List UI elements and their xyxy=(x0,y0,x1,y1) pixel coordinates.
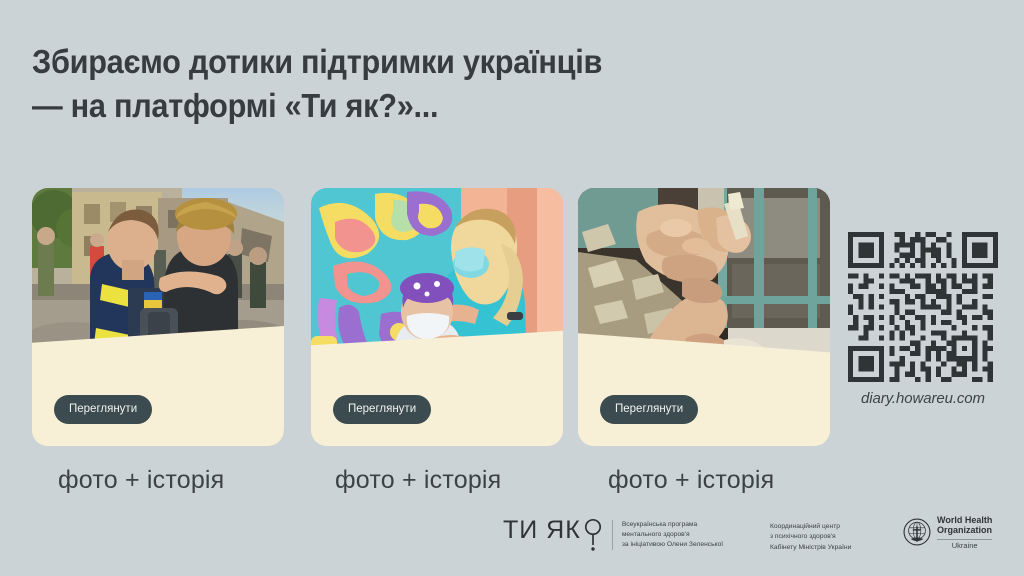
who-name-line-2: Organization xyxy=(937,526,992,536)
tyiak-desc-line-1: Всеукраїнська програма xyxy=(622,520,723,530)
page-title-line-2: — на платформі «Ти як?»... xyxy=(32,84,906,128)
logo-divider xyxy=(612,520,613,550)
card-caption: фото + історія xyxy=(335,466,501,495)
story-card[interactable]: Переглянути xyxy=(32,188,284,446)
card-caption-list: фото + історія фото + історія фото + іст… xyxy=(32,466,832,500)
tyiak-description: Всеукраїнська програма ментального здоро… xyxy=(622,520,723,551)
question-mark-icon xyxy=(583,518,603,552)
tyiak-wordmark: ТИ ЯК xyxy=(503,518,603,552)
who-text-block: World Health Organization Ukraine xyxy=(937,516,992,550)
view-button[interactable]: Переглянути xyxy=(54,395,152,424)
ccmh-line-2: з психічного здоров'я xyxy=(770,532,851,542)
who-emblem-icon xyxy=(903,518,931,546)
tyiak-desc-line-2: ментального здоров'я xyxy=(622,530,723,540)
card-caption: фото + історія xyxy=(58,466,224,495)
qr-block[interactable]: diary.howareu.com xyxy=(848,232,998,407)
who-logo: World Health Organization Ukraine xyxy=(903,516,992,550)
story-card-list: Переглянути xyxy=(32,188,832,446)
ccmh-line-1: Координаційний центр xyxy=(770,522,851,532)
card-cream-panel xyxy=(32,326,284,446)
story-card[interactable]: Переглянути xyxy=(311,188,563,446)
card-cream-panel xyxy=(311,326,563,446)
tyiak-logo: ТИ ЯК Всеукраїнська програма ментального… xyxy=(503,518,723,552)
tyiak-wordmark-text: ТИ ЯК xyxy=(503,518,581,543)
card-caption: фото + історія xyxy=(608,466,774,495)
tyiak-desc-line-3: за ініціативою Олени Зеленської xyxy=(622,540,723,550)
who-divider xyxy=(937,539,992,540)
page-title: Збираємо дотики підтримки українців — на… xyxy=(32,40,972,128)
view-button[interactable]: Переглянути xyxy=(600,395,698,424)
footer-logos: ТИ ЯК Всеукраїнська програма ментального… xyxy=(0,506,1024,568)
ccmh-line-3: Кабінету Міністрів України xyxy=(770,543,851,553)
coordination-center-logo: Координаційний центр з психічного здоров… xyxy=(770,522,851,553)
who-country-label: Ukraine xyxy=(937,542,992,550)
qr-code-icon[interactable] xyxy=(848,232,998,382)
story-card[interactable]: Переглянути xyxy=(578,188,830,446)
view-button[interactable]: Переглянути xyxy=(333,395,431,424)
qr-url-label: diary.howareu.com xyxy=(848,390,998,407)
page-title-line-1: Збираємо дотики підтримки українців xyxy=(32,40,906,84)
